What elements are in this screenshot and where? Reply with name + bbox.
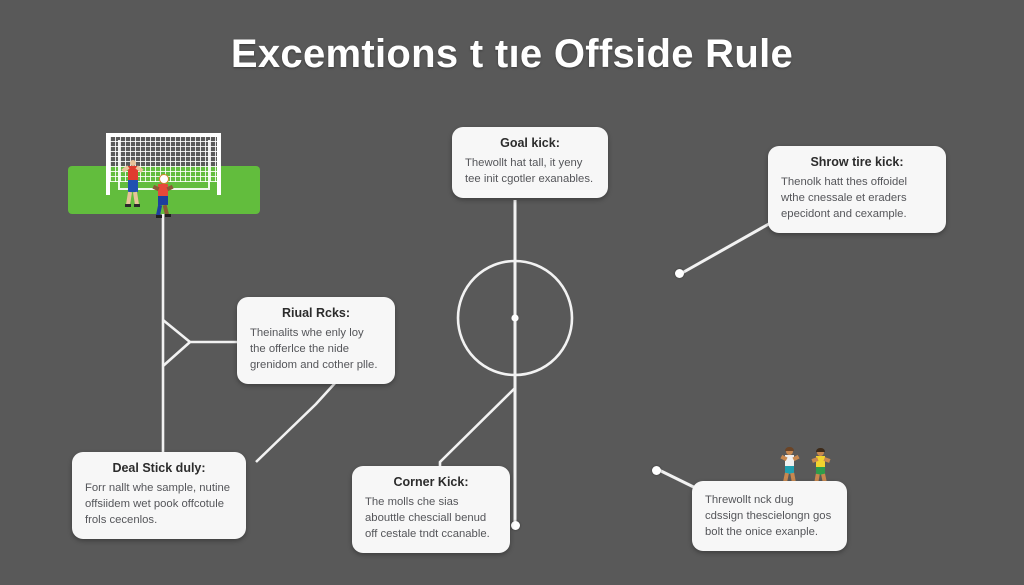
connector-endpoint-bottom <box>511 521 520 530</box>
connector-endpoint-throw-in <box>675 269 684 278</box>
player-pair-illustration <box>782 448 842 482</box>
card-ritual-kicks[interactable]: Riual Rcks: Theinalits whe enly loy the … <box>237 297 395 384</box>
card-corner-kick[interactable]: Corner Kick: The molls che sias abouttle… <box>352 466 510 553</box>
card-goal-kick[interactable]: Goal kick: Thewollt hat tall, it yeny te… <box>452 127 608 198</box>
card-ritual-kicks-title: Riual Rcks: <box>250 306 382 320</box>
player-figure-yellow <box>813 449 829 483</box>
connector-ritual-to-dropball <box>256 382 336 462</box>
card-corner-kick-title: Corner Kick: <box>365 475 497 489</box>
goal-crossbar <box>106 133 221 137</box>
player-figure-white <box>782 448 798 482</box>
goalkeeper-figure <box>126 160 140 206</box>
soccer-ball-icon <box>160 175 168 183</box>
card-ritual-kicks-body: Theinalits whe enly loy the offerlce the… <box>250 325 382 373</box>
card-drop-ball-title: Deal Stick duly: <box>85 461 233 475</box>
card-misc[interactable]: Threwollt nck dug cdssign thescielongn g… <box>692 481 847 551</box>
card-throw-in-title: Shrow tire kick: <box>781 155 933 169</box>
infographic-canvas: Excemtions t tıe Offside Rule <box>0 0 1024 585</box>
connector-left-chevron <box>163 320 190 366</box>
card-misc-body: Threwollt nck dug cdssign thescielongn g… <box>705 492 834 540</box>
card-goal-kick-body: Thewollt hat tall, it yeny tee init cgot… <box>465 155 595 187</box>
card-goal-kick-title: Goal kick: <box>465 136 595 150</box>
connector-corner-kick <box>440 388 515 466</box>
card-corner-kick-body: The molls che sias abouttle chesciall be… <box>365 494 497 542</box>
goal-post-right <box>217 133 221 195</box>
card-drop-ball[interactable]: Deal Stick duly: Forr nallt whe sample, … <box>72 452 246 539</box>
goal-post-left <box>106 133 110 195</box>
card-throw-in-body: Thenolk hatt thes offoidel wthe cnessale… <box>781 174 933 222</box>
pitch-center-spot <box>511 314 518 321</box>
card-throw-in[interactable]: Shrow tire kick: Thenolk hatt thes offoi… <box>768 146 946 233</box>
striker-figure <box>156 178 170 218</box>
connector-endpoint-misc <box>652 466 661 475</box>
card-drop-ball-body: Forr nallt whe sample, nutine offsiidem … <box>85 480 233 528</box>
